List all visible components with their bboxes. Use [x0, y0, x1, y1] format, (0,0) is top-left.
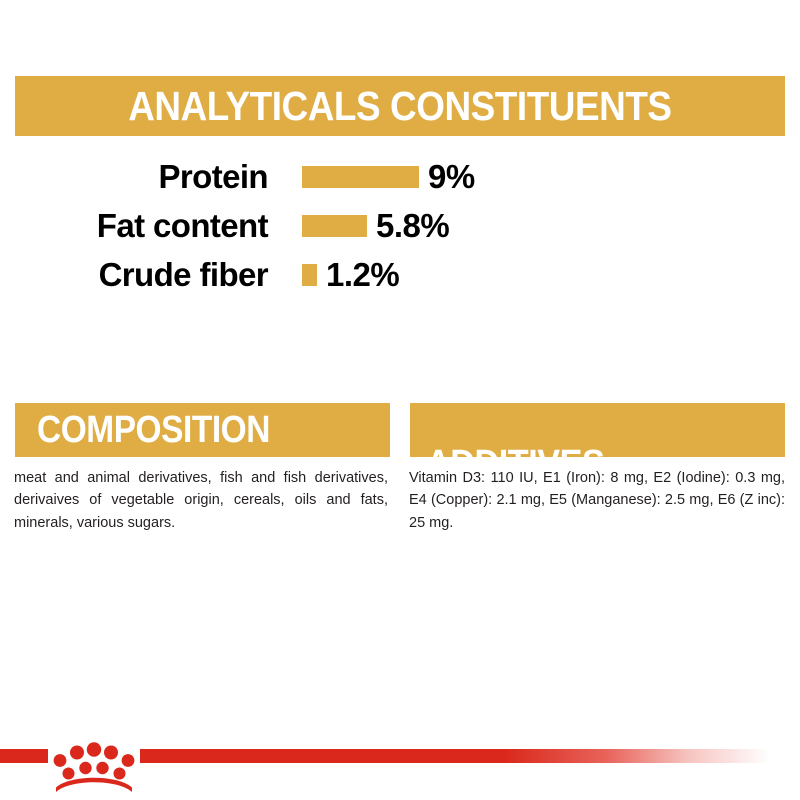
nutrient-label-fat-content: Fat content	[0, 209, 268, 242]
composition-body-text: meat and animal derivatives, fish and fi…	[14, 467, 388, 534]
nutrition-panel: ANALYTICALS CONSTITUENTS Protein 9% Fat …	[0, 0, 800, 800]
table-row: Crude fiber 1.2%	[0, 250, 800, 299]
royal-canin-crown-icon	[48, 735, 140, 793]
analyticals-heading-text: ANALYTICALS CONSTITUENTS	[128, 83, 671, 130]
composition-heading-band: COMPOSITION	[15, 403, 390, 457]
table-row: Protein 9%	[0, 152, 800, 201]
nutrient-bar-crude-fiber	[302, 264, 317, 286]
additives-heading-group: ADDITIVES (per kg)	[426, 403, 683, 457]
nutrient-bar-protein	[302, 166, 419, 188]
nutrient-value-fat-content: 5.8%	[376, 209, 449, 242]
analyticals-heading-band: ANALYTICALS CONSTITUENTS	[15, 76, 785, 136]
composition-heading-text: COMPOSITION	[37, 409, 270, 452]
nutrient-label-protein: Protein	[0, 160, 268, 193]
nutrient-label-crude-fiber: Crude fiber	[0, 258, 268, 291]
nutrient-bar-cell-crude-fiber: 1.2%	[302, 258, 399, 291]
table-row: Fat content 5.8%	[0, 201, 800, 250]
nutrient-bar-fat-content	[302, 215, 367, 237]
analyticals-bar-chart: Protein 9% Fat content 5.8% Crude fiber …	[0, 152, 800, 299]
footer-rule-left	[0, 749, 48, 763]
nutrient-bar-cell-protein: 9%	[302, 160, 475, 193]
additives-heading-text: ADDITIVES	[426, 443, 604, 457]
nutrient-value-crude-fiber: 1.2%	[326, 258, 399, 291]
additives-body-text: Vitamin D3: 110 IU, E1 (Iron): 8 mg, E2 …	[409, 467, 785, 534]
nutrient-bar-cell-fat-content: 5.8%	[302, 209, 449, 242]
footer-rule-right	[140, 749, 770, 763]
additives-heading-band: ADDITIVES (per kg)	[410, 403, 785, 457]
nutrient-value-protein: 9%	[428, 160, 475, 193]
footer	[0, 735, 800, 800]
